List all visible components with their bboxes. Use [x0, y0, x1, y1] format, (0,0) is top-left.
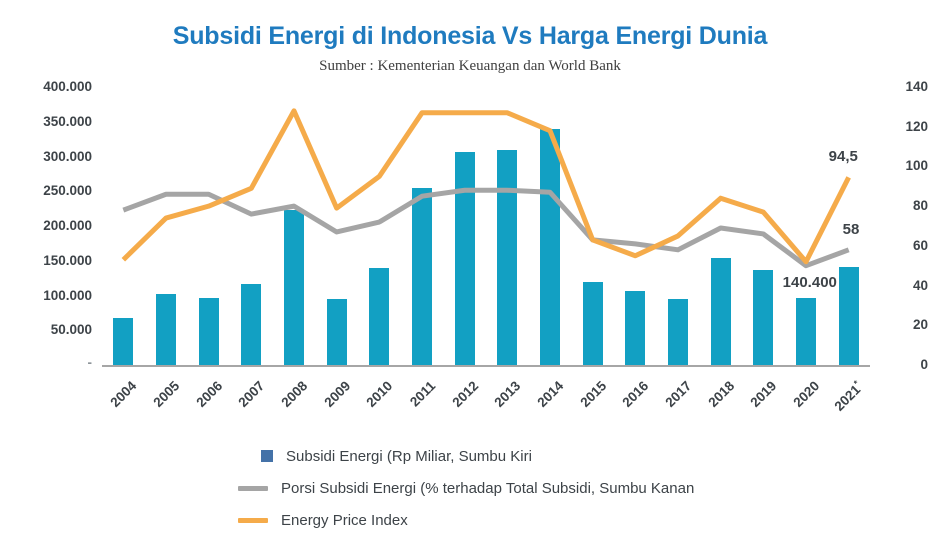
legend-swatch-line-orange-icon	[238, 518, 268, 523]
legend-label-subsidi-energi: Subsidi Energi (Rp Miliar, Sumbu Kiri	[286, 448, 532, 465]
callout-energy-price-index: 94,5	[829, 149, 858, 164]
right-axis-tick: 60	[884, 239, 928, 253]
legend-item-porsi-subsidi[interactable]: Porsi Subsidi Energi (% terhadap Total S…	[238, 472, 916, 504]
legend-label-porsi-subsidi: Porsi Subsidi Energi (% terhadap Total S…	[281, 480, 694, 497]
legend-swatch-line-gray-icon	[238, 486, 268, 491]
left-axis-tick: 200.000	[0, 219, 92, 233]
right-axis-tick: 100	[884, 159, 928, 173]
right-axis-tick: 140	[884, 80, 928, 94]
left-axis-tick: 100.000	[0, 289, 92, 303]
legend-swatch-square-icon	[261, 450, 273, 462]
callout-subsidi-energi: 140.400	[783, 275, 837, 290]
left-axis-tick: 300.000	[0, 150, 92, 164]
legend-label-energy-price-index: Energy Price Index	[281, 512, 408, 529]
left-axis-tick: 50.000	[0, 323, 92, 337]
left-axis-tick: 350.000	[0, 115, 92, 129]
right-axis-tick: 80	[884, 199, 928, 213]
left-axis-tick: 250.000	[0, 184, 92, 198]
chart-legend: Subsidi Energi (Rp Miliar, Sumbu Kiri Po…	[256, 440, 916, 536]
right-axis-tick: 0	[884, 358, 928, 372]
left-axis-tick: 400.000	[0, 80, 92, 94]
chart-subtitle: Sumber : Kementerian Keuangan dan World …	[0, 58, 940, 75]
line-porsi-subsidi-energi	[123, 190, 848, 265]
legend-item-subsidi-energi[interactable]: Subsidi Energi (Rp Miliar, Sumbu Kiri	[256, 440, 916, 472]
left-axis-tick: -	[0, 356, 92, 370]
legend-item-energy-price-index[interactable]: Energy Price Index	[238, 504, 916, 536]
right-axis-tick: 20	[884, 318, 928, 332]
right-axis-tick: 40	[884, 279, 928, 293]
page-title: Subsidi Energi di Indonesia Vs Harga Ene…	[0, 22, 940, 51]
line-energy-price-index	[123, 111, 848, 262]
left-axis-tick: 150.000	[0, 254, 92, 268]
line-series-layer	[102, 87, 870, 365]
callout-porsi-subsidi: 58	[843, 222, 860, 237]
x-axis-line	[102, 365, 870, 367]
right-axis-tick: 120	[884, 120, 928, 134]
chart-canvas: Subsidi Energi di Indonesia Vs Harga Ene…	[0, 0, 940, 548]
